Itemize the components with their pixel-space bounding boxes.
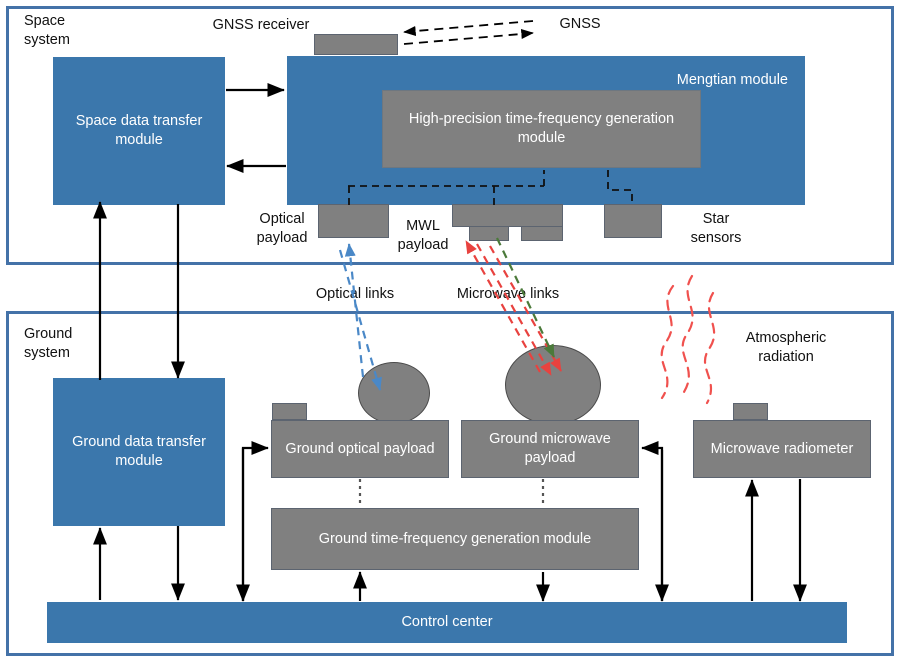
gnss-receiver-box xyxy=(314,34,398,55)
mwl-payload-box-main[interactable] xyxy=(452,204,563,227)
control-center-label: Control center xyxy=(401,613,492,632)
ground-microwave-payload[interactable]: Ground microwave payload xyxy=(461,420,639,478)
time-frequency-module-label: High-precision time-frequency generation… xyxy=(389,110,694,147)
star-sensors-label: Star sensors xyxy=(680,210,752,247)
mwl-payload-label: MWL payload xyxy=(389,217,457,254)
high-precision-time-frequency-generation-module[interactable]: High-precision time-frequency generation… xyxy=(382,90,701,168)
space-system-label: Space system xyxy=(24,12,144,49)
ground-data-transfer-module-label: Ground data transfer module xyxy=(60,433,218,470)
ground-optical-payload[interactable]: Ground optical payload xyxy=(271,420,449,478)
space-data-transfer-module[interactable]: Space data transfer module xyxy=(53,57,225,205)
optical-links-label: Optical links xyxy=(300,285,410,304)
space-optical-payload-label: Optical payload xyxy=(246,210,318,247)
mengtian-module-label: Mengtian module xyxy=(677,71,788,90)
gnss-receiver-label: GNSS receiver xyxy=(186,16,336,35)
ground-time-frequency-generation-module[interactable]: Ground time-frequency generation module xyxy=(271,508,639,570)
ground-microwave-payload-label: Ground microwave payload xyxy=(468,430,632,467)
ground-time-frequency-module-label: Ground time-frequency generation module xyxy=(319,530,591,549)
control-center[interactable]: Control center xyxy=(47,602,847,643)
microwave-radiometer[interactable]: Microwave radiometer xyxy=(693,420,871,478)
mwl-payload-box-right[interactable] xyxy=(521,226,563,241)
atmospheric-radiation-label: Atmospheric radiation xyxy=(716,329,856,366)
microwave-radiometer-small-box xyxy=(733,403,768,420)
ground-system-label: Ground system xyxy=(24,325,144,362)
ground-optical-payload-label: Ground optical payload xyxy=(285,440,434,459)
star-sensors-box[interactable] xyxy=(604,204,662,238)
space-optical-payload-box[interactable] xyxy=(318,204,389,238)
mwl-payload-box-left[interactable] xyxy=(469,226,509,241)
ground-optical-small-box xyxy=(272,403,307,420)
ground-microwave-dome xyxy=(505,345,601,425)
microwave-links-label: Microwave links xyxy=(440,285,576,304)
ground-data-transfer-module[interactable]: Ground data transfer module xyxy=(53,378,225,526)
ground-optical-dome xyxy=(358,362,430,424)
microwave-radiometer-label: Microwave radiometer xyxy=(711,440,854,459)
space-data-transfer-module-label: Space data transfer module xyxy=(60,112,218,149)
gnss-signal-label: GNSS xyxy=(545,15,615,34)
diagram-canvas: Space system GNSS receiver GNSS Space da… xyxy=(0,0,900,662)
